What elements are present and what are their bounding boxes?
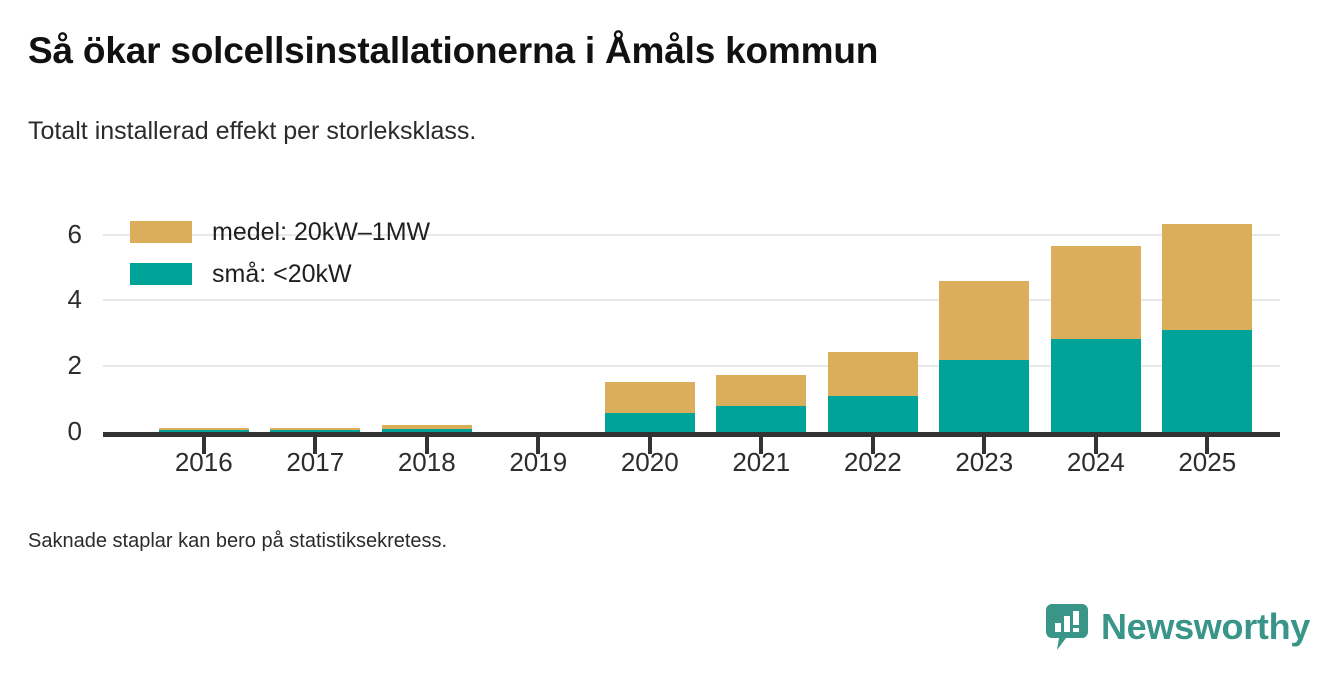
legend-label-sma: små: <20kW [212,260,352,289]
bar-segment-medel[interactable] [1162,224,1252,330]
bar-segment-sma[interactable] [716,406,806,432]
bar-group[interactable] [939,281,1029,432]
bar-segment-sma[interactable] [270,430,360,432]
chart-page: Så ökar solcellsinstallationerna i Åmåls… [0,0,1340,685]
bar-segment-sma[interactable] [939,360,1029,432]
legend-item-medel[interactable]: medel: 20kW–1MW [130,212,430,252]
x-axis-tick-label: 2022 [818,447,928,478]
x-axis-tick-label: 2019 [483,447,593,478]
legend-swatch-sma [130,263,192,285]
bar-group[interactable] [605,382,695,432]
bar-group[interactable] [270,428,360,432]
x-axis-tick-label: 2025 [1152,447,1262,478]
x-axis-tick-label: 2024 [1041,447,1151,478]
bar-segment-medel[interactable] [270,428,360,430]
bar-segment-sma[interactable] [382,429,472,432]
bar-segment-sma[interactable] [828,396,918,432]
bar-group[interactable] [159,428,249,432]
bar-segment-sma[interactable] [1162,330,1252,432]
chart-legend: medel: 20kW–1MW små: <20kW [130,212,430,296]
x-axis-tick-label: 2017 [260,447,370,478]
bar-segment-medel[interactable] [939,281,1029,360]
bar-segment-medel[interactable] [382,425,472,429]
bar-group[interactable] [716,375,806,432]
bar-group[interactable] [1162,224,1252,432]
bar-segment-sma[interactable] [159,430,249,432]
bar-segment-medel[interactable] [159,428,249,430]
newsworthy-bars-icon [1046,604,1088,650]
legend-item-sma[interactable]: små: <20kW [130,254,430,294]
bar-group[interactable] [382,425,472,432]
bar-group[interactable] [1051,246,1141,432]
x-axis-tick-label: 2023 [929,447,1039,478]
x-axis-tick-label: 2021 [706,447,816,478]
x-axis-tick-label: 2020 [595,447,705,478]
legend-swatch-medel [130,221,192,243]
newsworthy-logo[interactable]: Newsworthy [1046,604,1310,650]
bar-segment-sma[interactable] [1051,339,1141,432]
chart-footnote: Saknade staplar kan bero på statistiksek… [28,530,447,553]
legend-label-medel: medel: 20kW–1MW [212,218,430,247]
bar-segment-medel[interactable] [605,382,695,413]
x-axis-tick-label: 2016 [149,447,259,478]
bar-segment-medel[interactable] [1051,246,1141,339]
bar-group[interactable] [828,352,918,432]
logo-wordmark: Newsworthy [1101,606,1310,648]
x-axis-tick-label: 2018 [372,447,482,478]
bar-segment-sma[interactable] [605,413,695,432]
bar-segment-medel[interactable] [828,352,918,396]
bar-segment-medel[interactable] [716,375,806,406]
